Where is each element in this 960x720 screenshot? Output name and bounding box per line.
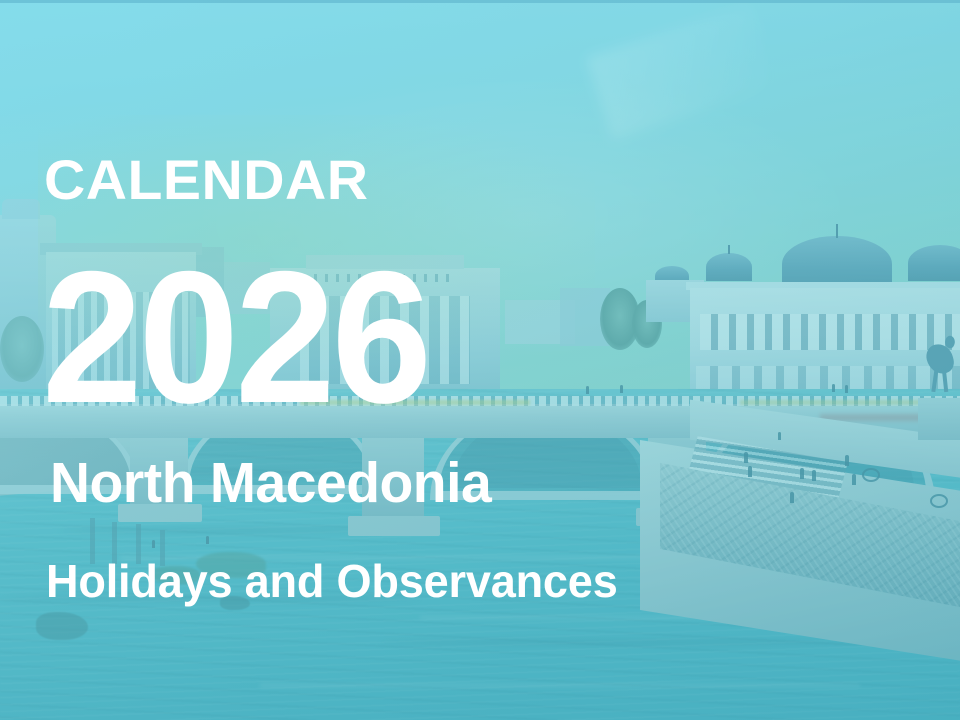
calendar-cover-poster: CALENDAR 2026 North Macedonia Holidays a…: [0, 0, 960, 720]
poster-subtitle: Holidays and Observances: [46, 558, 618, 604]
poster-country-name: North Macedonia: [50, 455, 491, 512]
poster-text-layer: CALENDAR 2026 North Macedonia Holidays a…: [0, 0, 960, 720]
poster-year: 2026: [42, 243, 428, 431]
poster-kicker-calendar: CALENDAR: [44, 152, 369, 208]
